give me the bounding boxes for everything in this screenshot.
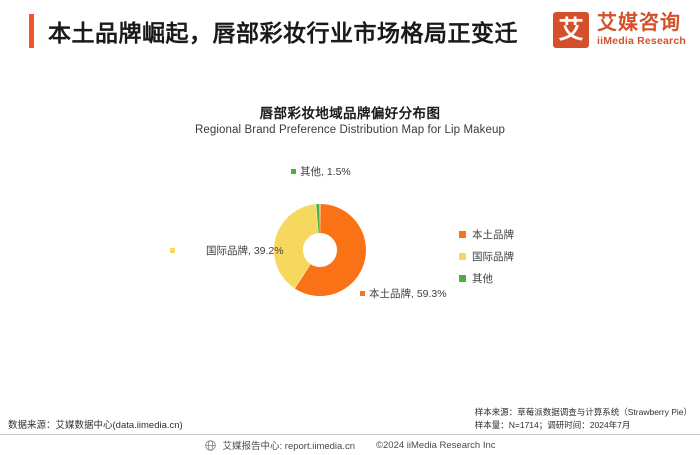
sample-source-line: 样本来源：草莓派数据调查与计算系统（Strawberry Pie） (475, 406, 692, 419)
legend-label-other: 其他 (472, 271, 493, 286)
callout-marker-international-icon (170, 248, 175, 253)
data-source-note: 数据来源：艾媒数据中心(data.iimedia.cn) (8, 417, 183, 431)
page-title: 本土品牌崛起，唇部彩妆行业市场格局正变迁 (48, 14, 518, 48)
chart-title: 唇部彩妆地域品牌偏好分布图 (0, 102, 700, 122)
title-accent-bar (29, 14, 34, 48)
legend-item-local-brand: 本土品牌 (459, 227, 514, 242)
slide-footer: 艾媒报告中心: report.iimedia.cn ©2024 iiMedia … (0, 435, 700, 455)
legend-item-other: 其他 (459, 271, 514, 286)
slide-canvas: 本土品牌崛起，唇部彩妆行业市场格局正变迁 艾 艾媒咨询 iiMedia Rese… (0, 0, 700, 455)
legend-swatch-other-icon (459, 275, 466, 282)
legend-swatch-international-icon (459, 253, 466, 260)
footer-copyright: ©2024 iiMedia Research Inc (376, 440, 495, 451)
callout-international-label: 国际品牌, 39.2% (206, 243, 284, 258)
legend-label-international: 国际品牌 (472, 249, 514, 264)
footer-report-center: 艾媒报告中心: report.iimedia.cn (223, 438, 356, 452)
legend-swatch-local-icon (459, 231, 466, 238)
callout-local-label: 本土品牌, 59.3% (369, 286, 447, 301)
legend-item-international-brand: 国际品牌 (459, 249, 514, 264)
globe-icon (205, 440, 216, 451)
sample-note: 样本来源：草莓派数据调查与计算系统（Strawberry Pie） 样本量：N=… (475, 406, 692, 432)
brand-wordmark: 艾媒咨询 iiMedia Research (597, 13, 686, 48)
callout-marker-local-icon (360, 291, 365, 296)
brand-name-cn: 艾媒咨询 (597, 13, 686, 34)
brand-logo: 艾 艾媒咨询 iiMedia Research (553, 12, 686, 48)
sample-size-line: 样本量：N=1714；调研时间：2024年7月 (475, 419, 692, 432)
brand-name-en: iiMedia Research (597, 35, 686, 48)
legend-label-local: 本土品牌 (472, 227, 514, 242)
chart-legend: 本土品牌 国际品牌 其他 (459, 227, 514, 286)
brand-mark-icon: 艾 (553, 12, 589, 48)
callout-other: 其他, 1.5% (291, 164, 351, 179)
callout-marker-other-icon (291, 169, 296, 174)
chart-subtitle: Regional Brand Preference Distribution M… (0, 124, 700, 136)
callout-other-label: 其他, 1.5% (300, 164, 351, 179)
callout-local-brand: 本土品牌, 59.3% (360, 286, 447, 301)
callout-international-brand: 国际品牌, 39.2% (170, 243, 284, 258)
